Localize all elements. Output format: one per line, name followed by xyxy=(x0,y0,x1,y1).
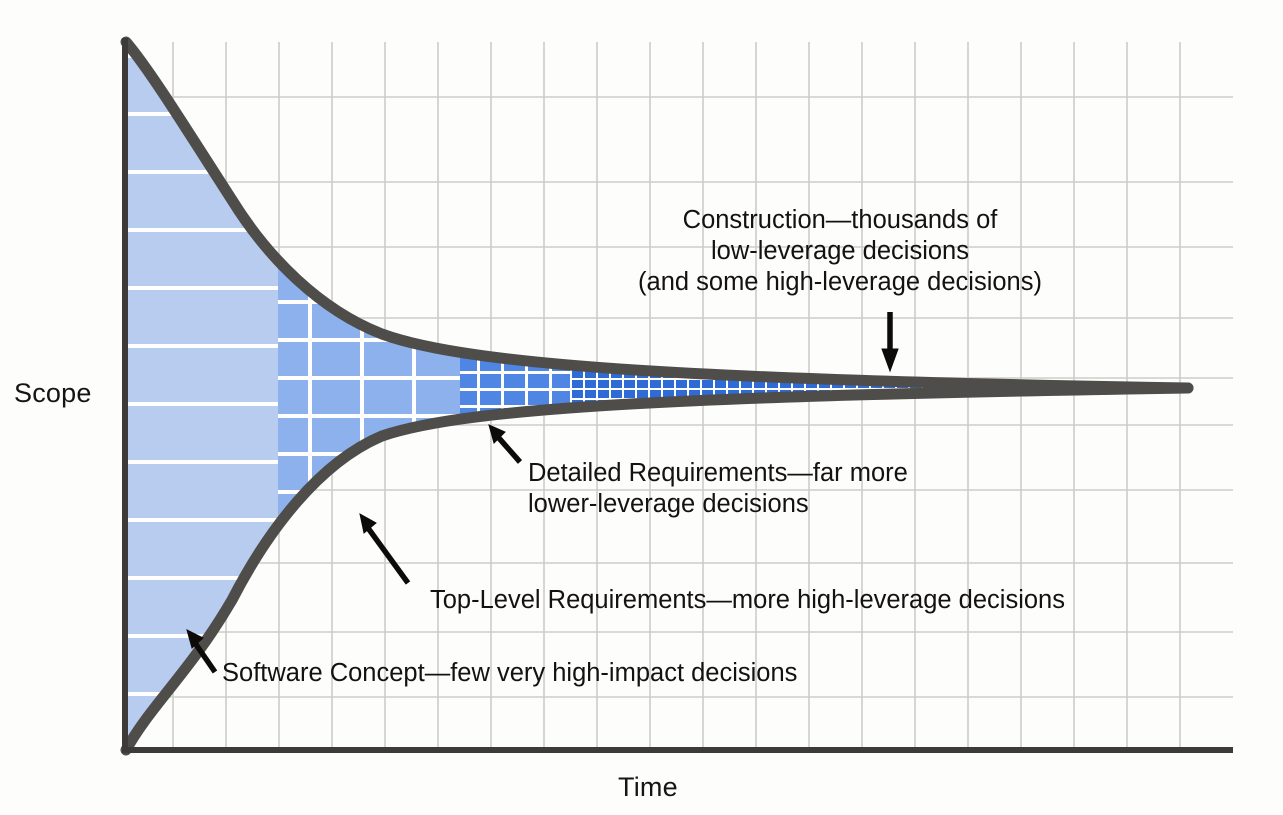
annotation-top-level-requirements: Top-Level Requirements—more high-leverag… xyxy=(430,585,1065,616)
figure-canvas: Scope Time Construction—thousands of low… xyxy=(0,0,1283,815)
annotation-construction: Construction—thousands of low-leverage d… xyxy=(610,205,1070,298)
annotation-construction-line2: low-leverage decisions xyxy=(610,236,1070,267)
annotation-detailed-requirements: Detailed Requirements—far more lower-lev… xyxy=(528,458,908,520)
annotation-construction-line1: Construction—thousands of xyxy=(610,205,1070,236)
up-left-arrow-icon-detailed xyxy=(489,425,520,462)
y-axis-label: Scope xyxy=(14,378,92,409)
annotation-concept-line1: Software Concept—few very high-impact de… xyxy=(222,658,797,689)
annotation-detailed-line1: Detailed Requirements—far more xyxy=(528,458,908,489)
annotation-toplevel-line1: Top-Level Requirements—more high-leverag… xyxy=(430,585,1065,616)
down-arrow-icon xyxy=(882,312,898,371)
annotation-detailed-line2: lower-leverage decisions xyxy=(528,489,908,520)
x-axis-label: Time xyxy=(618,772,678,803)
up-left-arrow-icon-toplevel xyxy=(360,514,408,583)
funnel-chart xyxy=(0,0,1283,815)
annotation-software-concept: Software Concept—few very high-impact de… xyxy=(222,658,797,689)
annotation-construction-line3: (and some high-leverage decisions) xyxy=(610,267,1070,298)
